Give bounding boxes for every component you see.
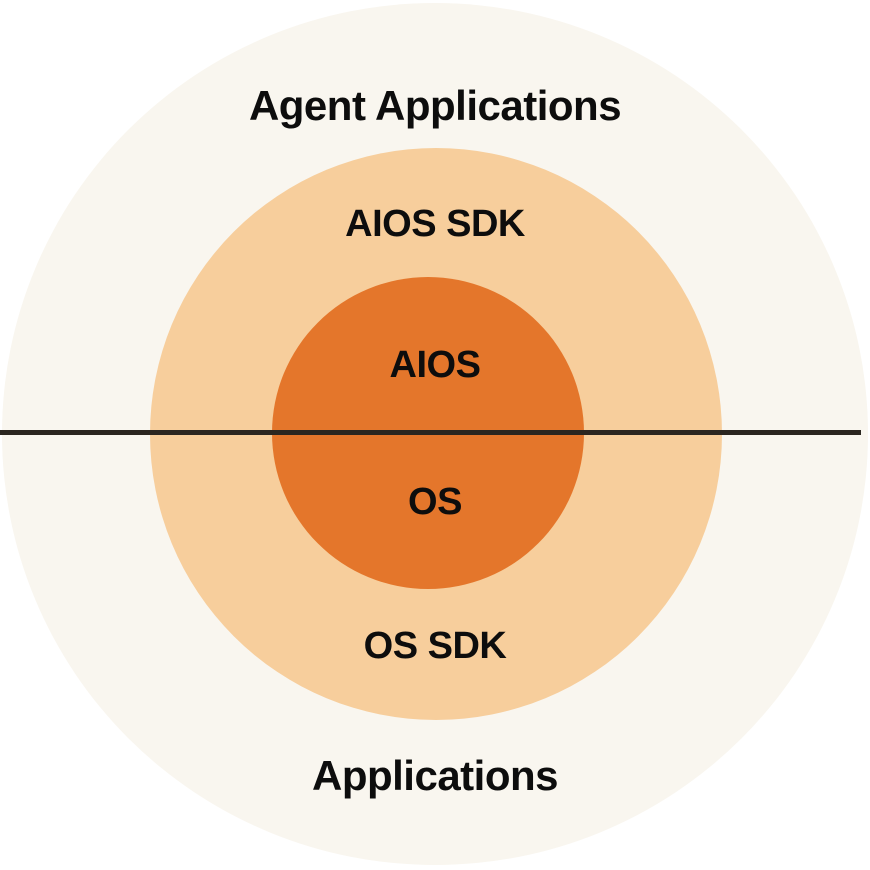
diagram-canvas: Agent Applications AIOS SDK AIOS OS OS S… [0, 0, 870, 870]
label-agent-applications: Agent Applications [0, 82, 870, 130]
label-aios-sdk: AIOS SDK [0, 203, 870, 246]
label-os-sdk: OS SDK [0, 625, 870, 668]
agent-vs-classic-divider [0, 430, 861, 435]
label-os: OS [0, 481, 870, 524]
label-applications: Applications [0, 752, 870, 800]
label-aios: AIOS [0, 344, 870, 387]
